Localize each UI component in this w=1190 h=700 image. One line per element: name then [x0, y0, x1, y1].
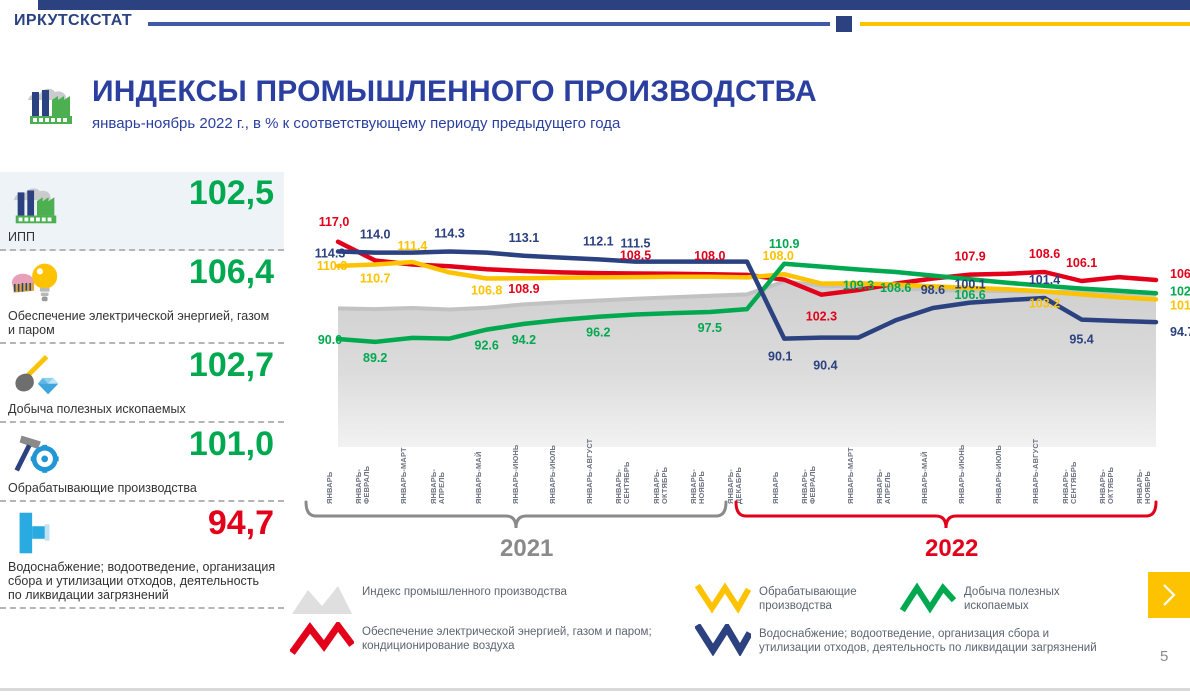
- data-label: 114.3: [434, 227, 465, 241]
- x-axis-tick: ЯНВАРЬ-ДЕКАБРЬ: [727, 467, 743, 504]
- legend-label: Индекс промышленного производства: [362, 582, 567, 600]
- chart-legend: Индекс промышленного производства Обраба…: [290, 582, 1070, 662]
- header-square-mark: [836, 16, 852, 32]
- data-label: 96.2: [586, 326, 610, 340]
- next-slide-button[interactable]: [1148, 572, 1190, 618]
- x-axis-tick: ЯНВАРЬ-АВГУСТ: [1032, 439, 1040, 504]
- data-label: 90.4: [813, 359, 837, 373]
- legend-item-energy[interactable]: Обеспечение электрической энергией, газо…: [290, 622, 652, 656]
- brand-logo-text: ИРКУТСКСТАТ: [14, 12, 132, 30]
- x-axis-tick: ЯНВАРЬ-ИЮНЬ: [512, 445, 520, 504]
- x-axis-tick: ЯНВАРЬ-СЕНТЯБРЬ: [1062, 462, 1078, 505]
- lightbulb-icon: [8, 257, 64, 307]
- stat-label: Обеспечение электрической энергией, газо…: [8, 309, 276, 337]
- data-label: 108.0: [763, 249, 794, 263]
- stat-value: 102,5: [189, 176, 274, 210]
- stat-label: Обрабатывающие производства: [8, 481, 276, 495]
- x-axis-tick: ЯНВАРЬ-МАЙ: [475, 452, 483, 504]
- factory-icon: [24, 78, 82, 126]
- page-title: ИНДЕКСЫ ПРОМЫШЛЕННОГО ПРОИЗВОДСТВА: [92, 75, 817, 109]
- x-axis-tick: ЯНВАРЬ-ИЮЛЬ: [995, 445, 1003, 504]
- stat-value: 94,7: [208, 506, 274, 540]
- data-label: 94.2: [512, 333, 536, 347]
- footer-rule: [0, 688, 1190, 691]
- zigzag-marker-icon: [695, 582, 751, 614]
- data-label: 108.6: [1029, 247, 1060, 261]
- top-accent-bar: [38, 0, 1190, 10]
- data-label: 92.6: [475, 339, 499, 353]
- data-label: 107.9: [954, 250, 985, 264]
- x-axis-tick: ЯНВАРЬ-ОКТЯБРЬ: [653, 467, 669, 504]
- data-label: 95.4: [1069, 333, 1093, 347]
- stat-value: 102,7: [189, 348, 274, 382]
- legend-label: Обрабатывающие производства: [759, 582, 889, 613]
- data-label: 108.9: [508, 282, 539, 296]
- legend-item-mining[interactable]: Добыча полезных ископаемых: [900, 582, 1094, 614]
- stat-row-water: 94,7 Водоснабжение; водоотведение, орган…: [0, 502, 284, 609]
- x-axis-tick: ЯНВАРЬ-МАРТ: [847, 447, 855, 504]
- data-label: 97.5: [698, 321, 722, 335]
- stat-value: 106,4: [189, 255, 274, 289]
- data-label: 111.4: [397, 239, 427, 253]
- data-label: 90.1: [768, 350, 792, 364]
- factory-icon: [8, 178, 64, 228]
- page-number: 5: [1160, 648, 1168, 665]
- stat-label: ИПП: [8, 230, 276, 244]
- legend-label: Обеспечение электрической энергией, газо…: [362, 622, 652, 653]
- x-axis-tick: ЯНВАРЬ-ФЕВРАЛЬ: [801, 466, 817, 504]
- data-label: 106.4: [1170, 267, 1190, 281]
- data-label: 94.7: [1170, 325, 1190, 339]
- year-label-2022: 2022: [925, 535, 978, 563]
- stat-label: Водоснабжение; водоотведение, организаци…: [8, 560, 276, 602]
- stats-panel: 102,5 ИПП 106,4 Обеспечение электрическо…: [0, 172, 284, 609]
- x-axis-tick: ЯНВАРЬ-АПРЕЛЬ: [430, 469, 446, 504]
- x-axis-tick: ЯНВАРЬ-ИЮЛЬ: [549, 445, 557, 504]
- x-axis-tick: ЯНВАРЬ-НОЯБРЬ: [1136, 469, 1152, 504]
- data-label: 102.7: [1170, 284, 1190, 298]
- chevron-right-icon: [1160, 582, 1178, 608]
- data-label: 114.3: [315, 247, 346, 261]
- x-axis-tick: ЯНВАРЬ-МАРТ: [400, 447, 408, 504]
- stat-label: Добыча полезных ископаемых: [8, 402, 276, 416]
- x-axis-tick: ЯНВАРЬ-МАЙ: [921, 452, 929, 504]
- data-label: 111.5: [621, 237, 651, 251]
- legend-label: Добыча полезных ископаемых: [964, 582, 1094, 613]
- area-marker-icon: [290, 582, 354, 616]
- x-axis-tick: ЯНВАРЬ-ОКТЯБРЬ: [1099, 467, 1115, 504]
- shovel-gem-icon: [8, 350, 64, 400]
- stat-value: 101,0: [189, 427, 274, 461]
- data-label: 110.3: [317, 259, 348, 273]
- data-label: 106.8: [471, 284, 502, 298]
- data-label: 106.1: [1066, 256, 1097, 270]
- data-label: 110.7: [360, 272, 391, 286]
- header-rule-right: [860, 22, 1190, 26]
- data-label: 101.0: [1170, 298, 1190, 312]
- data-label: 117,0: [319, 215, 350, 229]
- chart-canvas: 117,0108.9108.5108.0102.3107.9108.6106.1…: [300, 175, 1190, 465]
- year-label-2021: 2021: [500, 535, 553, 563]
- data-label: 100.1: [954, 278, 985, 292]
- x-axis-tick: ЯНВАРЬ-НОЯБРЬ: [690, 469, 706, 504]
- zigzag-marker-icon: [290, 622, 354, 656]
- x-axis-tick: ЯНВАРЬ-ФЕВРАЛЬ: [355, 466, 371, 504]
- header-rule-left: [148, 22, 830, 26]
- data-label: 89.2: [363, 351, 387, 365]
- data-label: 98.6: [921, 283, 945, 297]
- data-label: 101.4: [1029, 273, 1060, 287]
- legend-item-manufacturing[interactable]: Обрабатывающие производства: [695, 582, 889, 614]
- x-axis-tick: ЯНВАРЬ-СЕНТЯБРЬ: [615, 462, 631, 505]
- industrial-production-chart: 117,0108.9108.5108.0102.3107.9108.6106.1…: [300, 175, 1190, 465]
- legend-item-water[interactable]: Водоснабжение; водоотведение, организаци…: [695, 624, 1099, 656]
- data-label: 103.2: [1029, 297, 1060, 311]
- data-label: 113.1: [509, 231, 540, 245]
- x-axis-tick: ЯНВАРЬ-АПРЕЛЬ: [876, 469, 892, 504]
- data-label: 108.0: [694, 249, 725, 263]
- zigzag-marker-icon: [695, 624, 751, 656]
- data-label: 112.1: [583, 234, 614, 248]
- stat-row-mining: 102,7 Добыча полезных ископаемых: [0, 344, 284, 423]
- legend-label: Водоснабжение; водоотведение, организаци…: [759, 624, 1099, 655]
- year-braces: [300, 500, 1190, 540]
- data-label: 108.6: [880, 281, 911, 295]
- water-pipe-icon: [8, 508, 64, 558]
- stat-row-energy: 106,4 Обеспечение электрической энергией…: [0, 251, 284, 344]
- zigzag-marker-icon: [900, 582, 956, 614]
- x-axis-tick: ЯНВАРЬ-ИЮНЬ: [958, 445, 966, 504]
- title-block: ИНДЕКСЫ ПРОМЫШЛЕННОГО ПРОИЗВОДСТВА январ…: [92, 75, 817, 132]
- page-subtitle: январь-ноябрь 2022 г., в % к соответству…: [92, 115, 817, 132]
- stat-row-manufacturing: 101,0 Обрабатывающие производства: [0, 423, 284, 502]
- data-label: 110.9: [769, 237, 800, 251]
- x-axis-labels: ЯНВАРЬЯНВАРЬ-ФЕВРАЛЬЯНВАРЬ-МАРТЯНВАРЬ-АП…: [300, 436, 1190, 504]
- data-label: 109.3: [843, 279, 874, 293]
- x-axis-tick: ЯНВАРЬ-АВГУСТ: [586, 439, 594, 504]
- data-label: 114.0: [360, 228, 391, 242]
- hammer-gear-icon: [8, 429, 64, 479]
- legend-item-ipp[interactable]: Индекс промышленного производства: [290, 582, 567, 616]
- data-label: 102.3: [806, 310, 837, 324]
- data-label: 90.0: [318, 333, 342, 347]
- stat-row-ipp: 102,5 ИПП: [0, 172, 284, 251]
